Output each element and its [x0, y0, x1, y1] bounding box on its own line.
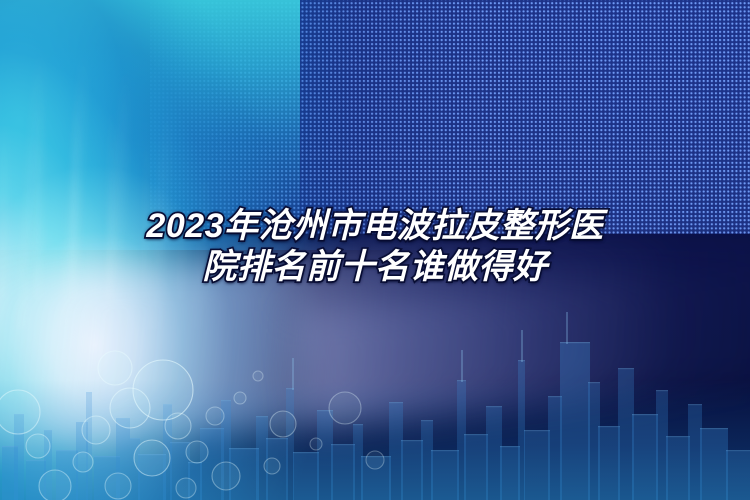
title-line-1: 2023年沧州市电波拉皮整形医 [0, 206, 750, 247]
title-line-2: 院排名前十名谁做得好 [0, 247, 750, 288]
page-title: 2023年沧州市电波拉皮整形医 院排名前十名谁做得好 [0, 206, 750, 288]
banner-image: 2023年沧州市电波拉皮整形医 院排名前十名谁做得好 [0, 0, 750, 500]
